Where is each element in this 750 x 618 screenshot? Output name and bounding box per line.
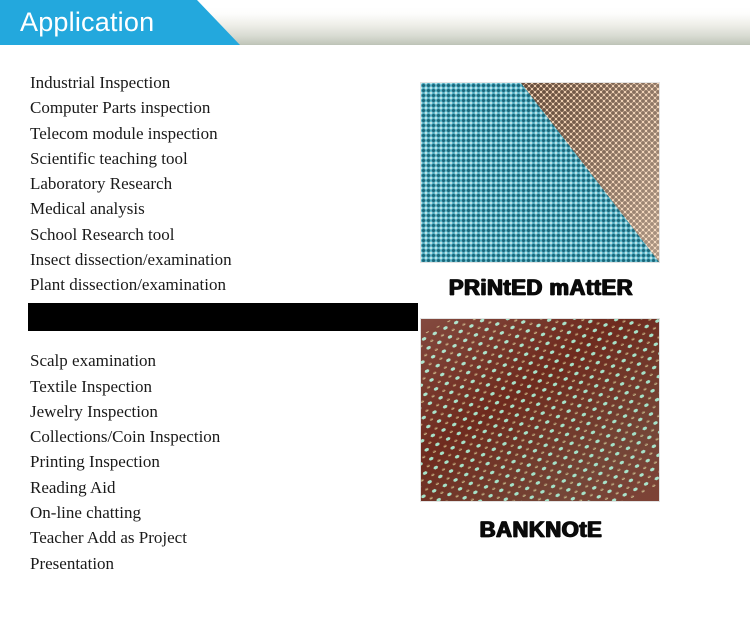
list-item: Scientific teaching tool	[30, 146, 410, 171]
list-item: Computer Parts inspection	[30, 95, 410, 120]
list-item: Printing Inspection	[30, 449, 410, 474]
list-item: Laboratory Research	[30, 171, 410, 196]
banknote-caption: BANKNOtE	[420, 516, 662, 544]
header-banner: Application	[0, 0, 750, 50]
list-item: Insect dissection/examination	[30, 247, 410, 272]
list-item: Industrial Inspection	[30, 70, 410, 95]
list-item: Telecom module inspection	[30, 121, 410, 146]
page-title: Application	[20, 4, 154, 40]
list-item: Presentation	[30, 551, 410, 576]
list-item: Collections/Coin Inspection	[30, 424, 410, 449]
list-item: Reading Aid	[30, 475, 410, 500]
list-item: Jewelry Inspection	[30, 399, 410, 424]
list-item: Plant dissection/examination	[30, 272, 410, 297]
list-item: Scalp examination	[30, 348, 410, 373]
list-item: School Research tool	[30, 222, 410, 247]
halftone-diagonal-edge	[421, 83, 659, 262]
banknote-macro-photo	[420, 318, 660, 502]
redaction-bar	[28, 303, 418, 331]
banknote-sheen-overlay	[421, 319, 659, 501]
printed-matter-caption: PRiNtED mAttER	[420, 274, 662, 302]
list-item: Medical analysis	[30, 196, 410, 221]
printed-matter-macro-photo	[420, 82, 660, 263]
list-item: Teacher Add as Project	[30, 525, 410, 550]
list-item: On-line chatting	[30, 500, 410, 525]
list-item: Textile Inspection	[30, 374, 410, 399]
